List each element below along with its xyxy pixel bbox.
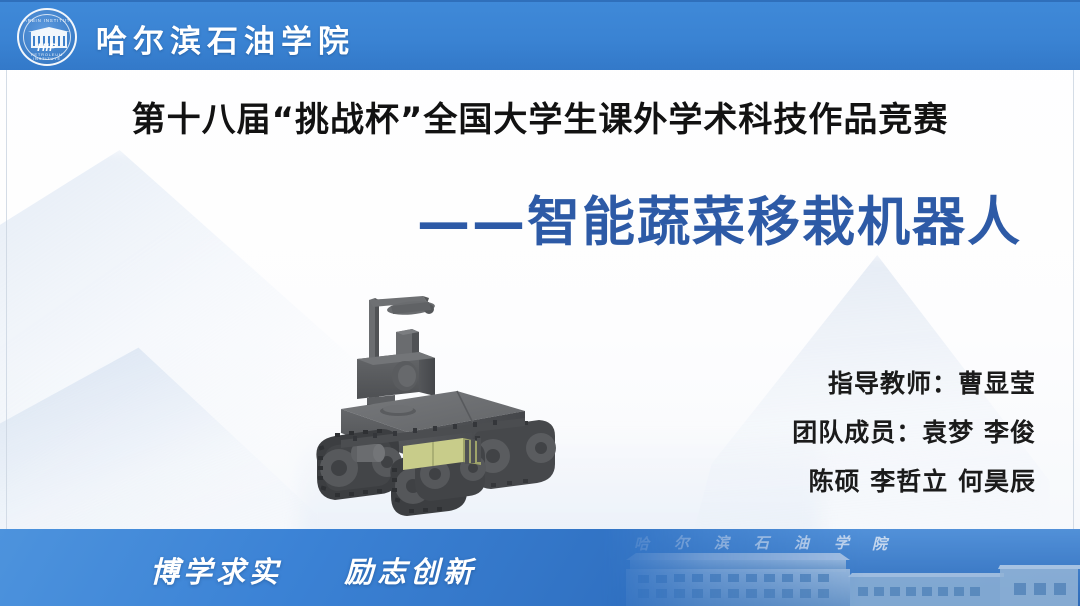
credits-block: 指导教师：曹显莹 团队成员：袁梦 李俊 陈硕 李哲立 何昊辰 [792,360,1036,506]
page-title: 第十八届“挑战杯”全国大学生课外学术科技作品竞赛 [0,92,1080,141]
footer-slogan: 博学求实 励志创新 [150,549,476,591]
university-name: 哈尔滨石油学院 [96,16,355,61]
team-line-2: 陈硕 李哲立 何昊辰 [792,458,1036,507]
campus-building-photo: 哈尔滨 石油学 院 [600,529,1080,606]
svg-text:学: 学 [834,534,851,552]
team-line-1: 团队成员：袁梦 李俊 [792,409,1036,458]
slogan-left: 博学求实 [150,555,282,589]
footer-band: 哈尔滨 石油学 院 博学求实 励志创新 [0,529,1080,606]
svg-text:油: 油 [794,534,811,552]
university-logo: HARBIN INSTITUTE HIP PETROLEUM INSTITUTE [17,8,77,66]
emblem-arc-top-text: HARBIN INSTITUTE [19,19,75,24]
header-band: HARBIN INSTITUTE HIP PETROLEUM INSTITUTE… [0,0,1080,70]
advisor-line: 指导教师：曹显莹 [792,360,1036,409]
slogan-right: 励志创新 [344,555,476,589]
page-subtitle: ——智能蔬菜移栽机器人 [417,193,1022,254]
university-emblem-icon: HARBIN INSTITUTE HIP PETROLEUM INSTITUTE [17,8,77,66]
svg-text:哈: 哈 [634,535,651,553]
presentation-slide: HARBIN INSTITUTE HIP PETROLEUM INSTITUTE… [0,0,1080,606]
emblem-arc-bottom-text: PETROLEUM INSTITUTE [19,53,75,61]
robot-illustration [295,278,585,523]
